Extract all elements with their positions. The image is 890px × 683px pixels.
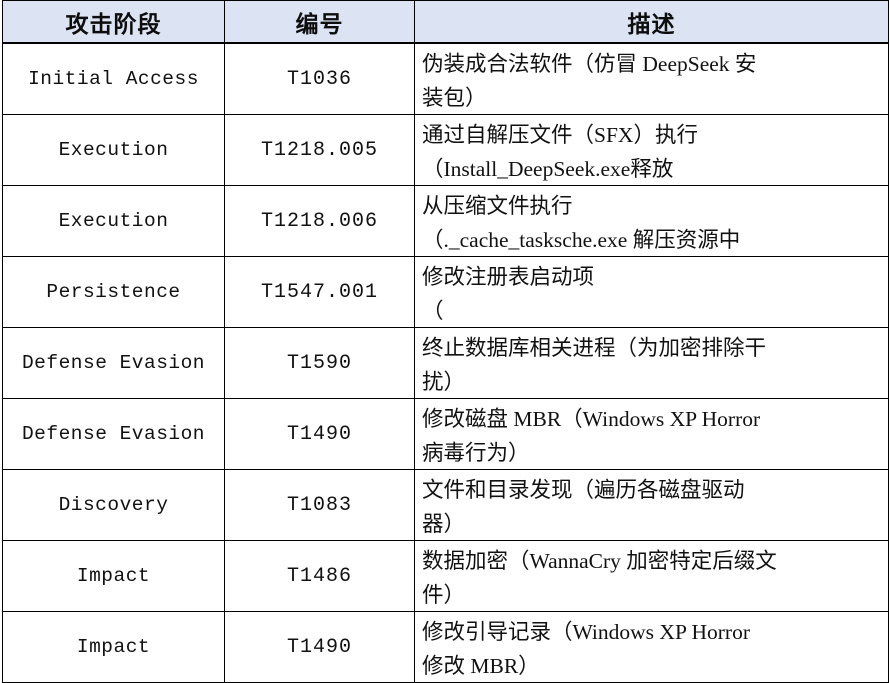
description-text: 通过自解压文件（SFX）执行 （Install_DeepSeek.exe释放	[415, 115, 888, 185]
cell-technique-id: T1083	[225, 470, 415, 541]
table-row: Persistence T1547.001 修改注册表启动项 （	[3, 257, 889, 328]
cell-technique-id: T1490	[225, 399, 415, 470]
column-header-technique-id: 编号	[225, 1, 415, 44]
cell-attack-stage: Execution	[3, 115, 225, 186]
table-header-row: 攻击阶段 编号 描述	[3, 1, 889, 44]
column-header-attack-stage: 攻击阶段	[3, 1, 225, 44]
cell-description: 修改注册表启动项 （	[415, 257, 889, 328]
attack-technique-table: 攻击阶段 编号 描述 Initial Access T1036 伪装成合法软件（…	[2, 0, 889, 683]
table-row: Defense Evasion T1590 终止数据库相关进程（为加密排除干 扰…	[3, 328, 889, 399]
description-line-1: 伪装成合法软件（仿冒 DeepSeek 安	[422, 47, 888, 81]
cell-technique-id: T1490	[225, 612, 415, 683]
cell-description: 文件和目录发现（遍历各磁盘驱动 器）	[415, 470, 889, 541]
table-header: 攻击阶段 编号 描述	[3, 1, 889, 44]
description-line-2: 修改 MBR）	[422, 649, 888, 682]
cell-attack-stage: Defense Evasion	[3, 399, 225, 470]
cell-description: 从压缩文件执行 （._cache_tasksche.exe 解压资源中	[415, 186, 889, 257]
cell-technique-id: T1590	[225, 328, 415, 399]
cell-attack-stage: Persistence	[3, 257, 225, 328]
description-line-1: 文件和目录发现（遍历各磁盘驱动	[422, 473, 888, 507]
cell-technique-id: T1036	[225, 43, 415, 115]
description-line-1: 通过自解压文件（SFX）执行	[422, 118, 888, 152]
description-text: 终止数据库相关进程（为加密排除干 扰）	[415, 328, 888, 398]
cell-description: 终止数据库相关进程（为加密排除干 扰）	[415, 328, 889, 399]
cell-technique-id: T1486	[225, 541, 415, 612]
cell-description: 修改磁盘 MBR（Windows XP Horror 病毒行为）	[415, 399, 889, 470]
description-text: 从压缩文件执行 （._cache_tasksche.exe 解压资源中	[415, 186, 888, 256]
description-line-1: 数据加密（WannaCry 加密特定后缀文	[422, 544, 888, 578]
cell-attack-stage: Initial Access	[3, 43, 225, 115]
table-body: Initial Access T1036 伪装成合法软件（仿冒 DeepSeek…	[3, 43, 889, 683]
description-text: 伪装成合法软件（仿冒 DeepSeek 安 装包）	[415, 44, 888, 114]
cell-attack-stage: Defense Evasion	[3, 328, 225, 399]
description-line-1: 从压缩文件执行	[422, 189, 888, 223]
description-text: 文件和目录发现（遍历各磁盘驱动 器）	[415, 470, 888, 540]
description-line-1: 修改磁盘 MBR（Windows XP Horror	[422, 402, 888, 436]
description-line-1: 终止数据库相关进程（为加密排除干	[422, 331, 888, 365]
cell-description: 伪装成合法软件（仿冒 DeepSeek 安 装包）	[415, 43, 889, 115]
cell-technique-id: T1218.006	[225, 186, 415, 257]
description-text: 数据加密（WannaCry 加密特定后缀文 件）	[415, 541, 888, 611]
cell-attack-stage: Execution	[3, 186, 225, 257]
description-text: 修改引导记录（Windows XP Horror 修改 MBR）	[415, 612, 888, 682]
description-line-2: 器）	[422, 507, 888, 540]
table-row: Execution T1218.006 从压缩文件执行 （._cache_tas…	[3, 186, 889, 257]
table-row: Execution T1218.005 通过自解压文件（SFX）执行 （Inst…	[3, 115, 889, 186]
description-line-2: 装包）	[422, 81, 888, 114]
description-line-2: （._cache_tasksche.exe 解压资源中	[422, 223, 888, 256]
table-row: Impact T1490 修改引导记录（Windows XP Horror 修改…	[3, 612, 889, 683]
cell-technique-id: T1547.001	[225, 257, 415, 328]
table-row: Discovery T1083 文件和目录发现（遍历各磁盘驱动 器）	[3, 470, 889, 541]
cell-description: 修改引导记录（Windows XP Horror 修改 MBR）	[415, 612, 889, 683]
description-line-2: （	[422, 294, 888, 327]
table-row: Impact T1486 数据加密（WannaCry 加密特定后缀文 件）	[3, 541, 889, 612]
description-line-2: 病毒行为）	[422, 436, 888, 469]
description-line-1: 修改注册表启动项	[422, 260, 888, 294]
description-line-2: 件）	[422, 578, 888, 611]
description-line-1: 修改引导记录（Windows XP Horror	[422, 615, 888, 649]
attack-technique-table-container: 攻击阶段 编号 描述 Initial Access T1036 伪装成合法软件（…	[0, 0, 890, 677]
table-row: Defense Evasion T1490 修改磁盘 MBR（Windows X…	[3, 399, 889, 470]
cell-description: 数据加密（WannaCry 加密特定后缀文 件）	[415, 541, 889, 612]
cell-attack-stage: Discovery	[3, 470, 225, 541]
cell-description: 通过自解压文件（SFX）执行 （Install_DeepSeek.exe释放	[415, 115, 889, 186]
description-line-2: 扰）	[422, 365, 888, 398]
table-row: Initial Access T1036 伪装成合法软件（仿冒 DeepSeek…	[3, 43, 889, 115]
cell-attack-stage: Impact	[3, 612, 225, 683]
cell-attack-stage: Impact	[3, 541, 225, 612]
description-text: 修改磁盘 MBR（Windows XP Horror 病毒行为）	[415, 399, 888, 469]
description-line-2: （Install_DeepSeek.exe释放	[422, 152, 888, 185]
description-text: 修改注册表启动项 （	[415, 257, 888, 327]
cell-technique-id: T1218.005	[225, 115, 415, 186]
column-header-description: 描述	[415, 1, 889, 44]
